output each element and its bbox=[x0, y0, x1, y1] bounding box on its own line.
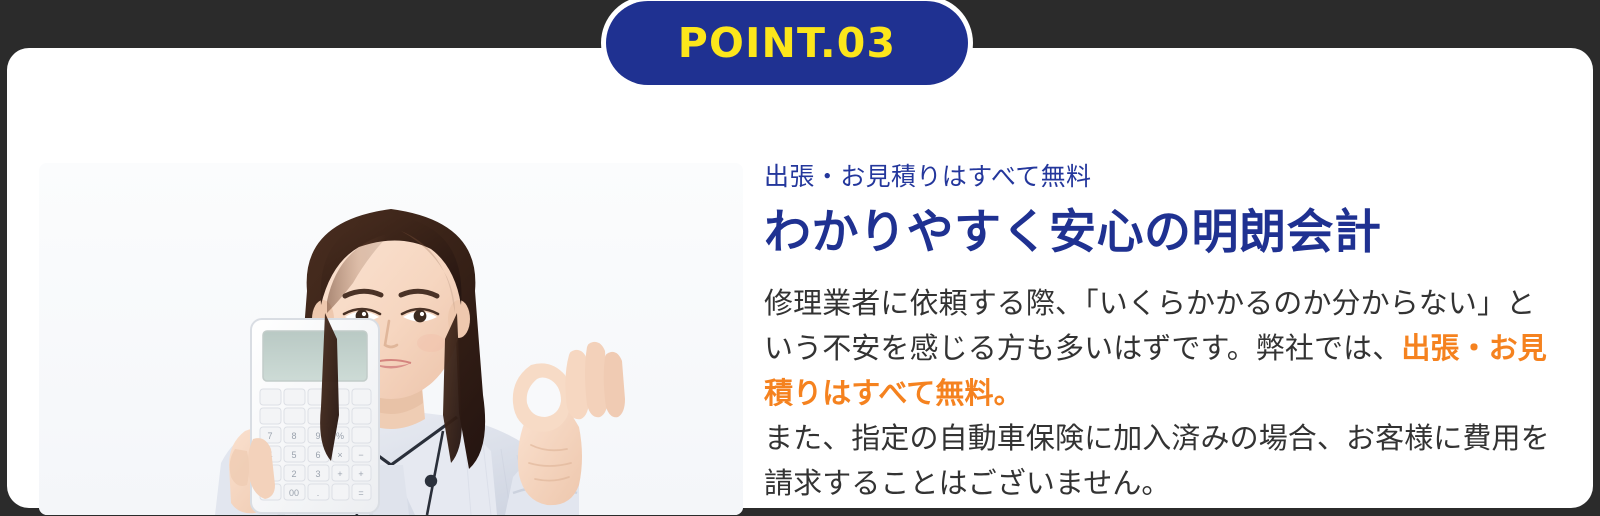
page-title: わかりやすく安心の明朗会計 bbox=[764, 204, 1564, 263]
point-card: GT MU C bbox=[7, 48, 1593, 508]
svg-text:6: 6 bbox=[315, 450, 320, 460]
svg-text:00: 00 bbox=[289, 488, 299, 498]
paragraph-1: 修理業者に依頼する際、「いくらかかるのか分からない」という不安を感じる方も多いは… bbox=[764, 281, 1564, 416]
point-card-stage: GT MU C bbox=[0, 0, 1600, 516]
svg-text:9: 9 bbox=[315, 431, 320, 441]
body-copy: 修理業者に依頼する際、「いくらかかるのか分からない」という不安を感じる方も多いは… bbox=[764, 281, 1564, 506]
svg-text:%: % bbox=[336, 431, 344, 441]
text-column: 出張・お見積りはすべて無料 わかりやすく安心の明朗会計 修理業者に依頼する際、「… bbox=[764, 161, 1564, 506]
eyebrow-text: 出張・お見積りはすべて無料 bbox=[764, 161, 1564, 192]
svg-text:×: × bbox=[337, 450, 342, 460]
badge-body: POINT.03 bbox=[606, 1, 968, 85]
svg-text:8: 8 bbox=[291, 431, 296, 441]
svg-text:7: 7 bbox=[267, 431, 272, 441]
feature-photo: GT MU C bbox=[39, 163, 743, 515]
point-badge: POINT.03 bbox=[601, 0, 973, 90]
paragraph-2: また、指定の自動車保険に加入済みの場合、お客様に費用を請求することはございません… bbox=[764, 416, 1564, 506]
svg-text:.: . bbox=[317, 488, 320, 498]
photo-illustration: GT MU C bbox=[39, 163, 743, 515]
svg-text:+: + bbox=[337, 469, 342, 479]
svg-text:3: 3 bbox=[315, 469, 320, 479]
badge-label: POINT.03 bbox=[678, 23, 896, 64]
svg-text:2: 2 bbox=[291, 469, 296, 479]
svg-text:5: 5 bbox=[291, 450, 296, 460]
svg-text:−: − bbox=[358, 450, 363, 460]
svg-text:+: + bbox=[358, 469, 363, 479]
svg-text:=: = bbox=[358, 488, 363, 498]
